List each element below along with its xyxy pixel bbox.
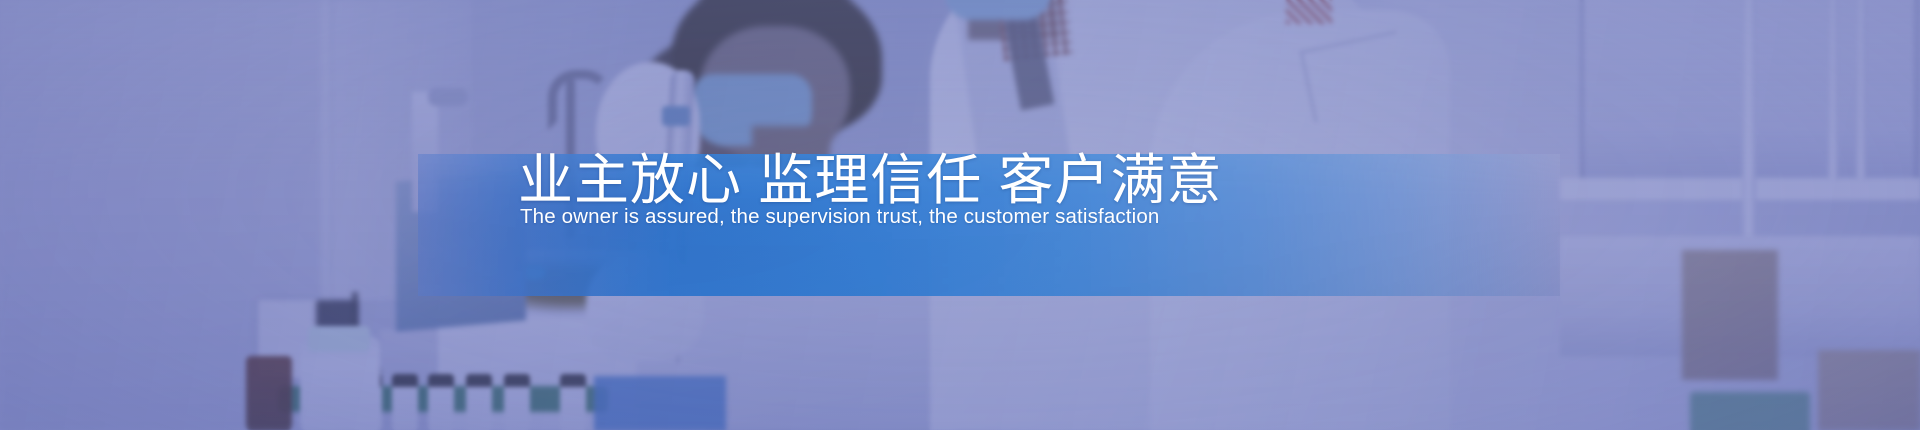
hero-banner: 业主放心 监理信任 客户满意 The owner is assured, the…: [0, 0, 1920, 430]
slogan-subline: The owner is assured, the supervision tr…: [520, 202, 1159, 232]
slogan-text-block: 业主放心 监理信任 客户满意 The owner is assured, the…: [518, 148, 1558, 298]
